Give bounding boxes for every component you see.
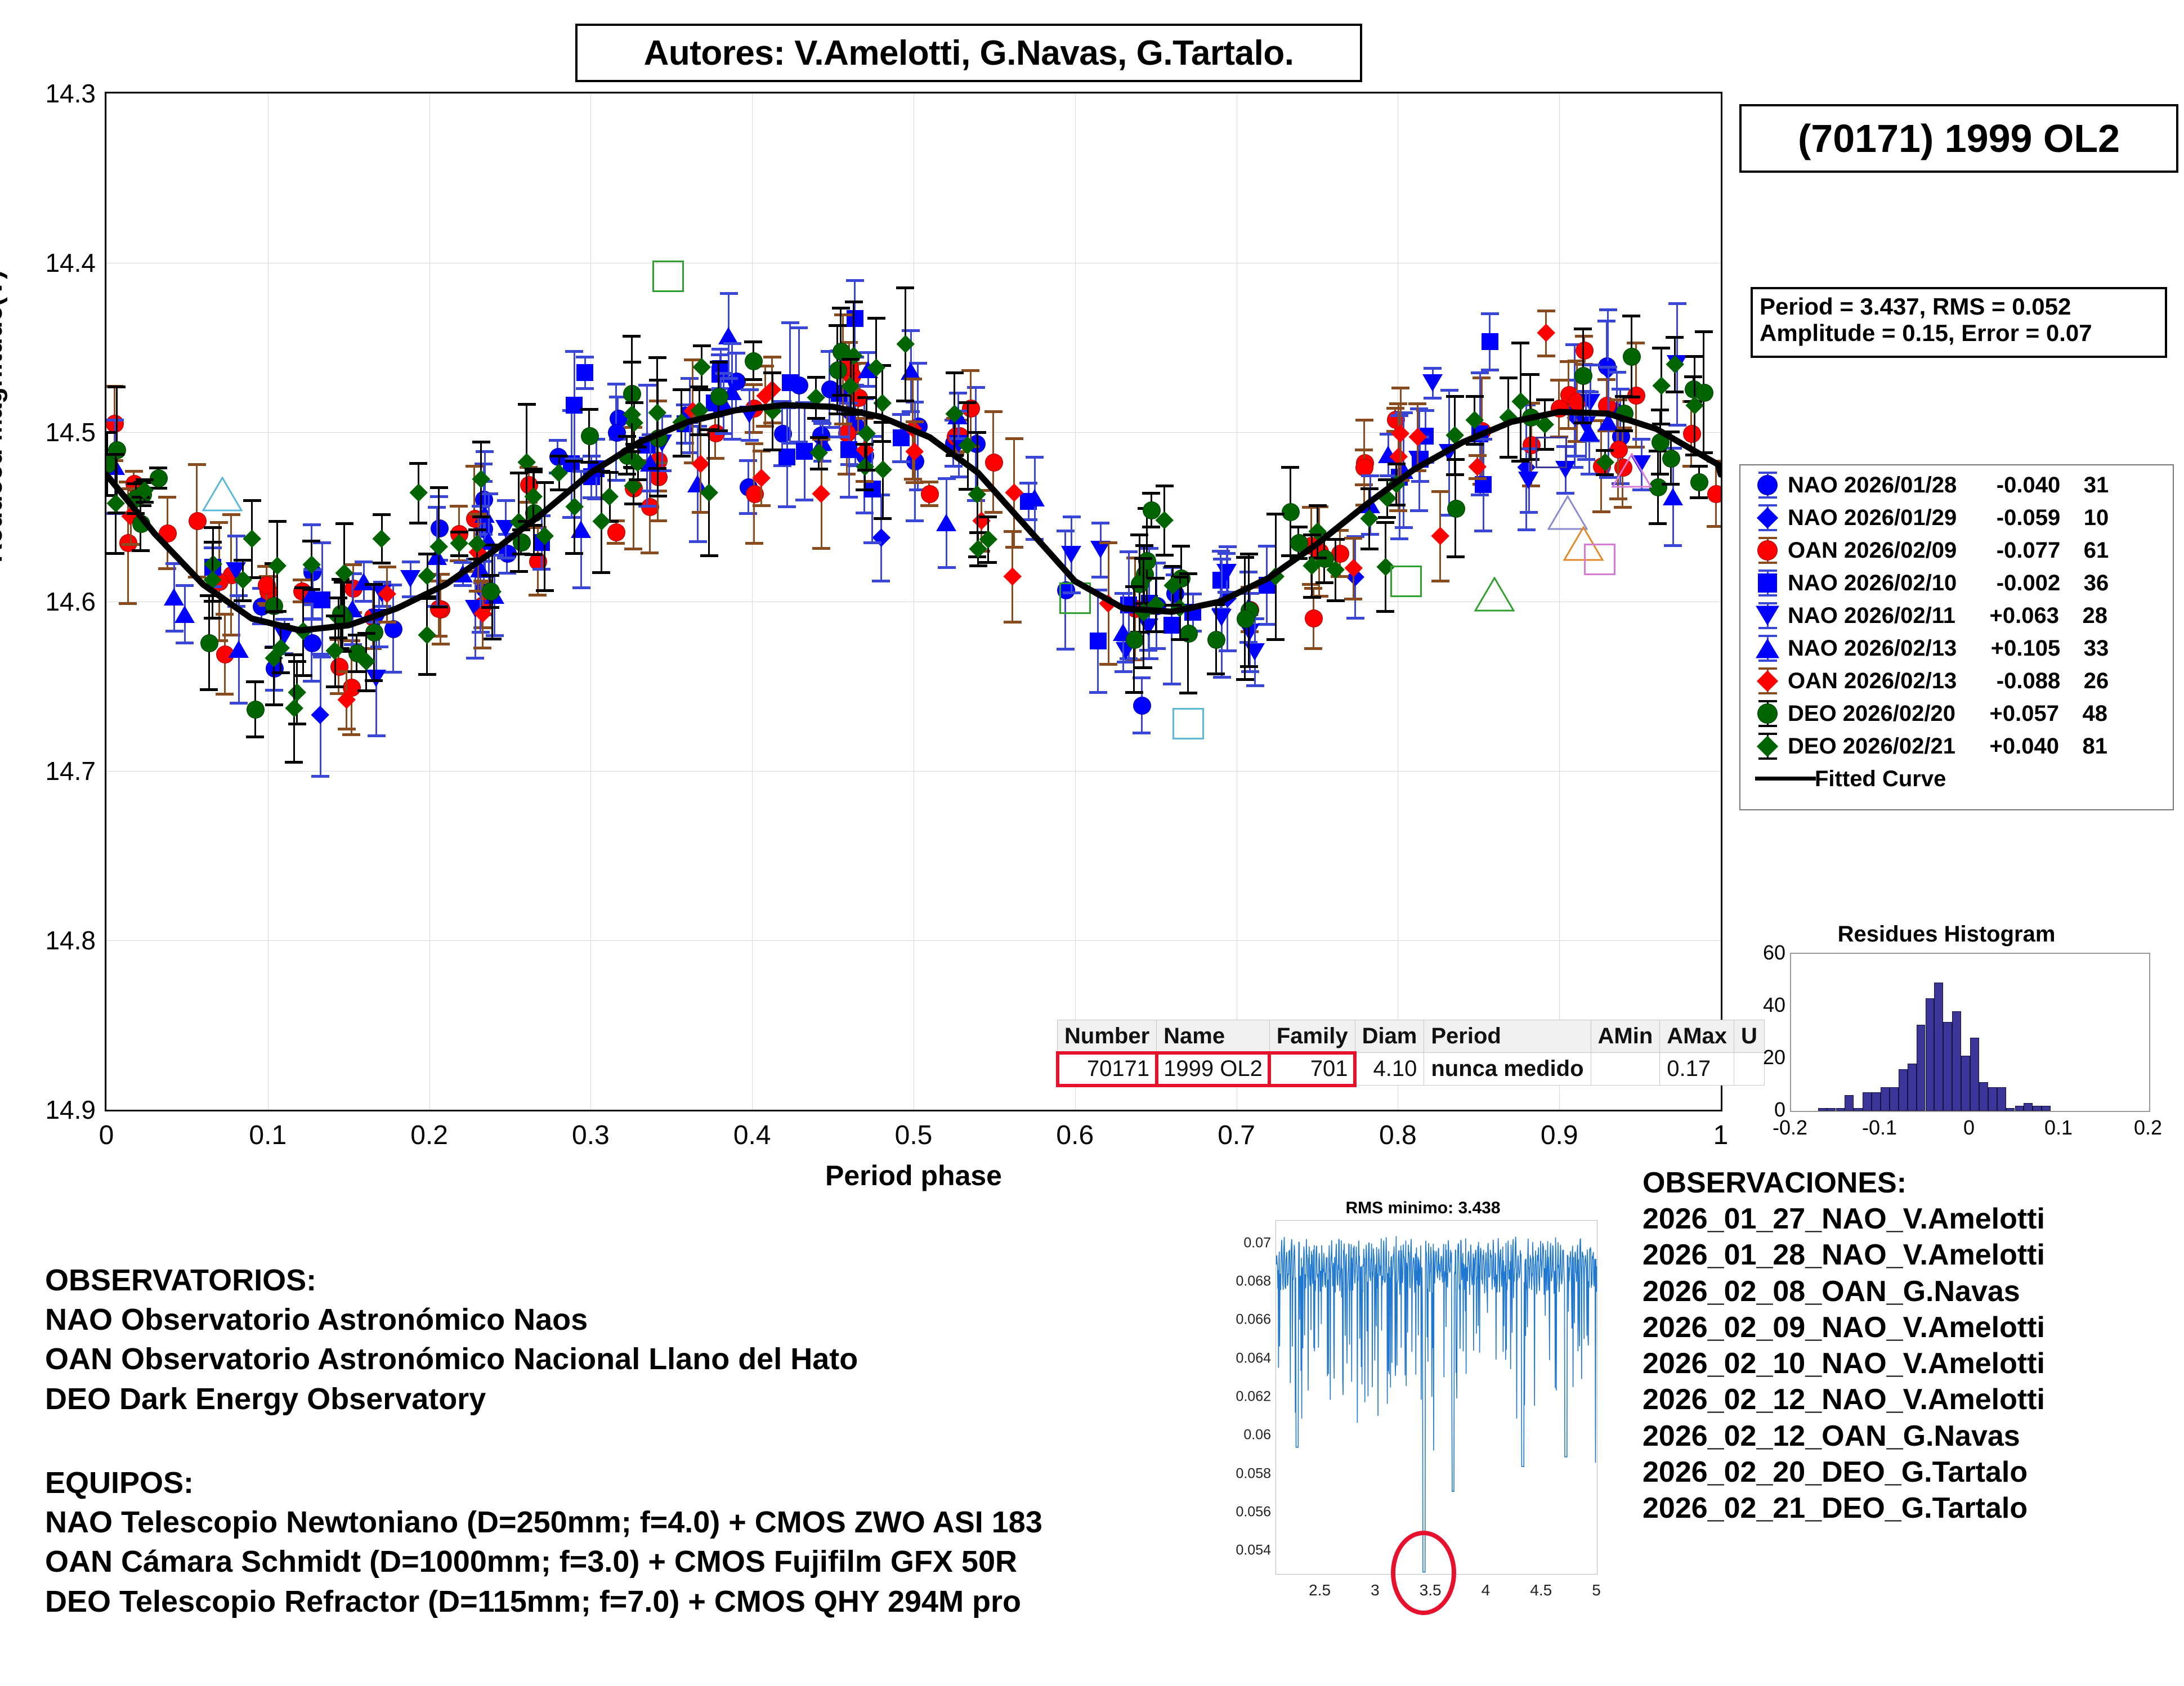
error-bar-cap	[1707, 460, 1721, 463]
error-bar-cap	[1481, 369, 1499, 371]
histogram-bar	[1881, 1087, 1890, 1111]
error-bar-cap	[1574, 421, 1592, 424]
error-bar-cap	[867, 416, 885, 419]
error-bar-cap	[1376, 521, 1394, 524]
histogram-bar	[1926, 998, 1935, 1111]
error-bar	[438, 487, 440, 606]
error-bar-cap	[587, 497, 605, 500]
error-bar	[224, 614, 226, 694]
error-bar-cap	[1668, 302, 1686, 305]
legend-item[interactable]: OAN 2026/02/13-0.08826	[1740, 665, 2173, 697]
error-bar	[343, 523, 345, 624]
error-bar	[276, 521, 278, 611]
error-bar-cap	[1091, 522, 1109, 524]
error-bar	[760, 451, 762, 505]
error-bar-cap	[872, 494, 890, 496]
error-bar	[957, 393, 959, 439]
error-bar-cap	[727, 408, 745, 411]
legend-point-count: 81	[2059, 734, 2107, 759]
error-bar	[489, 575, 491, 607]
error-bar-cap	[979, 515, 997, 518]
error-bar-cap	[892, 460, 910, 463]
error-bar	[1363, 450, 1365, 484]
error-bar-cap	[334, 650, 352, 653]
error-bar-cap	[1241, 670, 1259, 673]
residues-histogram: Residues Histogram 0204060-0.2-0.100.10.…	[1721, 922, 2172, 1147]
error-bar-cap	[1026, 456, 1044, 459]
error-bar	[491, 545, 493, 638]
legend-series-name: NAO 2026/02/10	[1788, 571, 1957, 595]
error-bar-cap	[136, 478, 154, 481]
error-bar	[1139, 535, 1140, 632]
observacion-item: 2026_02_21_DEO_G.Tartalo	[1643, 1490, 2183, 1526]
error-bar-cap	[1099, 541, 1117, 544]
error-bar-cap	[1666, 336, 1684, 339]
periodogram-x-tick-label: 5	[1592, 1581, 1601, 1599]
observatorio-heading: OBSERVATORIOS:	[45, 1261, 1205, 1300]
error-bar	[1454, 396, 1456, 474]
error-bar	[356, 635, 357, 671]
error-bar	[320, 654, 321, 776]
error-bar-cap	[1184, 593, 1202, 595]
error-bar-cap	[1408, 469, 1426, 472]
error-bar	[637, 447, 639, 479]
error-bar-cap	[132, 496, 150, 499]
error-bar-cap	[781, 442, 799, 445]
error-bar-cap	[106, 453, 124, 456]
error-bar	[1128, 551, 1130, 658]
error-bar-cap	[623, 361, 641, 364]
error-bar-cap	[468, 528, 486, 531]
histogram-x-tick-label: 0.2	[2134, 1116, 2162, 1140]
error-bar-cap	[753, 504, 771, 507]
error-bar	[480, 506, 481, 632]
error-bar-cap	[243, 499, 261, 502]
error-bar-cap	[268, 520, 287, 523]
error-bar-cap	[373, 562, 391, 564]
error-bar	[882, 422, 884, 518]
error-bar	[1028, 483, 1030, 519]
error-bar-cap	[272, 671, 290, 674]
error-bar-cap	[1005, 546, 1023, 549]
error-bar	[905, 288, 906, 401]
error-bar-cap	[1290, 557, 1308, 560]
error-bar-cap	[904, 478, 922, 481]
error-bar-cap	[481, 606, 499, 609]
error-bar-cap	[285, 653, 303, 656]
error-bar	[473, 466, 475, 571]
error-bar-cap	[1565, 466, 1583, 469]
error-bar-cap	[303, 618, 321, 621]
error-bar	[427, 554, 428, 598]
legend-error-bar	[1767, 667, 1769, 694]
table-row: 70171 1999 OL2 701 4.10 nunca medido 0.1…	[1058, 1053, 1765, 1086]
error-bar-cap	[204, 526, 222, 529]
error-bar	[753, 384, 754, 432]
cell-number: 70171	[1058, 1053, 1157, 1086]
error-bar-cap	[946, 371, 964, 374]
error-bar-cap	[1117, 661, 1135, 663]
error-bar	[798, 328, 800, 442]
highlighted-point-square-outline	[1536, 437, 1567, 468]
error-bar	[230, 514, 232, 635]
histogram-title: Residues Histogram	[1838, 922, 2056, 947]
error-bar-cap	[450, 505, 468, 508]
error-bar	[238, 595, 240, 703]
equipos-block: EQUIPOS:NAO Telescopio Newtoniano (D=250…	[45, 1463, 1238, 1621]
error-bar-cap	[1474, 438, 1492, 441]
periodogram-x-tick-label: 3	[1371, 1581, 1380, 1599]
error-bar-cap	[378, 566, 396, 568]
error-bar-cap	[1567, 455, 1585, 458]
error-bar-cap	[222, 513, 240, 516]
legend-series-name: DEO 2026/02/21	[1788, 734, 1955, 759]
error-bar-cap	[624, 503, 642, 505]
legend-item[interactable]: DEO 2026/02/20+0.05748	[1740, 697, 2173, 730]
error-bar-cap	[863, 541, 881, 544]
error-bar-cap	[510, 472, 528, 474]
error-bar	[167, 497, 168, 569]
error-bar	[1483, 439, 1484, 531]
authors-title-box: Autores: V.Amelotti, G.Navas, G.Tartalo.	[575, 24, 1362, 82]
y-axis-tick-label: 14.4	[0, 248, 96, 278]
legend-marker-circle-icon	[1747, 535, 1788, 566]
legend-marker-square-icon	[1747, 567, 1788, 599]
error-bar-cap	[1004, 621, 1022, 624]
histogram-x-tick-label: 0.1	[2044, 1116, 2073, 1140]
error-bar-cap	[938, 477, 956, 480]
legend-error-cap	[1758, 562, 1777, 564]
cell-diam: 4.10	[1355, 1053, 1424, 1086]
error-bar-cap	[1597, 378, 1615, 381]
error-bar-cap	[1466, 443, 1484, 446]
error-bar-cap	[842, 358, 860, 361]
legend-item[interactable]: NAO 2026/02/11+0.06328	[1740, 599, 2173, 632]
histogram-bar	[1908, 1064, 1917, 1111]
error-bar	[1385, 522, 1386, 611]
error-bar	[609, 472, 611, 521]
error-bar-cap	[781, 321, 799, 324]
error-bar-cap	[1240, 665, 1258, 668]
error-bar-cap	[856, 443, 874, 446]
error-bar-cap	[1662, 431, 1680, 433]
error-bar	[617, 397, 619, 438]
error-bar-cap	[830, 436, 848, 438]
error-bar-cap	[268, 610, 287, 613]
error-bar-cap	[338, 728, 356, 730]
error-bar-cap	[1089, 589, 1107, 591]
error-bar-cap	[859, 351, 877, 354]
legend-item-fitted-curve[interactable]: Fitted Curve	[1740, 763, 2173, 795]
histogram-bar	[1863, 1092, 1872, 1111]
observaciones-block: OBSERVACIONES:2026_01_27_NAO_V.Amelotti2…	[1643, 1165, 2183, 1526]
error-bar	[574, 461, 575, 553]
error-bar	[1448, 390, 1450, 515]
error-bar	[1635, 343, 1637, 447]
error-bar-cap	[227, 605, 245, 608]
error-bar-cap	[1649, 522, 1667, 525]
error-bar	[1254, 618, 1256, 685]
error-bar-cap	[348, 670, 366, 673]
plot-legend: NAO 2026/01/28-0.04031NAO 2026/01/29-0.0…	[1739, 464, 2174, 810]
error-bar-cap	[469, 590, 487, 593]
error-bar-cap	[715, 432, 733, 435]
error-bar	[580, 471, 582, 588]
error-bar-cap	[896, 400, 914, 402]
legend-error-cap	[1758, 496, 1777, 499]
error-bar-cap	[329, 636, 347, 639]
data-point-marker	[1707, 485, 1721, 503]
highlighted-point-triangle-outline	[1474, 577, 1515, 612]
legend-item[interactable]: NAO 2026/01/29-0.05910	[1740, 501, 2173, 534]
x-axis-tick-label: 0.3	[572, 1120, 610, 1151]
error-bar-cap	[1615, 429, 1633, 432]
error-bar	[574, 351, 575, 459]
error-bar-cap	[1179, 572, 1197, 575]
legend-series-name: NAO 2026/02/11	[1788, 603, 1955, 628]
error-bar-cap	[1134, 557, 1152, 560]
legend-item[interactable]: DEO 2026/02/21+0.04081	[1740, 730, 2173, 763]
error-bar-cap	[1218, 552, 1236, 555]
error-bar	[1474, 396, 1475, 444]
error-bar	[532, 469, 534, 525]
periodogram-y-tick-label: 0.068	[1215, 1274, 1271, 1290]
error-bar-cap	[1125, 585, 1143, 588]
error-bar-cap	[692, 511, 710, 514]
error-bar	[1335, 539, 1336, 600]
error-bar	[520, 530, 522, 554]
error-bar-cap	[165, 630, 184, 633]
error-bar	[351, 640, 352, 735]
legend-offset-value: -0.002	[1957, 571, 2060, 596]
error-bar-cap	[1577, 458, 1595, 461]
error-bar-cap	[450, 531, 468, 533]
error-bar-cap	[176, 642, 194, 644]
histogram-bar	[1934, 983, 1943, 1111]
error-bar-cap	[550, 455, 568, 458]
error-bar	[1395, 464, 1397, 505]
error-bar-cap	[1391, 387, 1409, 389]
error-bar	[1244, 557, 1246, 679]
error-bar	[544, 482, 545, 590]
legend-label: NAO 2026/02/11+0.06328	[1788, 603, 2107, 629]
error-bar-cap	[234, 599, 252, 602]
error-bar	[1418, 409, 1420, 511]
error-bar-cap	[1388, 463, 1406, 465]
error-bar-cap	[629, 478, 647, 481]
cell-amin	[1591, 1053, 1660, 1086]
error-bar	[1297, 527, 1299, 558]
error-bar-cap	[1615, 395, 1633, 398]
error-bar	[1568, 361, 1569, 428]
equipo-item: DEO Telescopio Refractor (D=115mm; f=7.0…	[45, 1582, 1238, 1621]
error-bar	[458, 532, 460, 555]
error-bar-cap	[1582, 364, 1600, 366]
error-bar-cap	[450, 554, 468, 557]
legend-offset-value: +0.057	[1955, 701, 2059, 727]
x-axis-tick-label: 0.6	[1056, 1120, 1094, 1151]
error-bar-cap	[132, 549, 150, 552]
legend-fitted-curve-label: Fitted Curve	[1815, 766, 1946, 792]
error-bar	[718, 362, 719, 430]
error-bar	[584, 357, 586, 388]
error-bar-cap	[106, 552, 124, 555]
histogram-bar	[1988, 1087, 1997, 1111]
observacion-item: 2026_02_20_DEO_G.Tartalo	[1643, 1454, 2183, 1490]
legend-offset-value: -0.077	[1957, 538, 2060, 563]
error-bar	[867, 352, 869, 385]
y-axis-tick-label: 14.6	[0, 586, 96, 617]
error-bar	[1604, 450, 1606, 474]
error-bar-cap	[1511, 342, 1529, 344]
error-bar-cap	[648, 356, 666, 359]
histogram-x-tick-label: -0.2	[1773, 1116, 1807, 1140]
periodogram-y-tick-label: 0.062	[1215, 1389, 1271, 1405]
error-bar	[981, 490, 982, 551]
error-bar-cap	[744, 378, 762, 381]
error-bar-cap	[1218, 591, 1236, 594]
error-bar	[681, 389, 682, 456]
error-bar-cap	[1331, 529, 1349, 532]
error-bar-cap	[624, 467, 642, 469]
error-bar-cap	[498, 533, 516, 536]
error-bar	[296, 661, 298, 723]
error-bar-cap	[845, 409, 863, 412]
error-bar-cap	[1241, 592, 1259, 595]
legend-offset-value: -0.088	[1957, 669, 2060, 694]
error-bar-cap	[344, 563, 362, 566]
error-bar-cap	[624, 548, 642, 550]
error-bar-cap	[1386, 430, 1404, 433]
legend-offset-value: +0.105	[1957, 636, 2060, 661]
x-axis-tick-label: 0.1	[249, 1120, 287, 1151]
legend-item[interactable]: OAN 2026/02/09-0.07761	[1740, 534, 2173, 567]
error-bar	[723, 373, 724, 433]
error-bar-cap	[1395, 526, 1413, 529]
error-bar-cap	[484, 638, 502, 640]
error-bar-cap	[252, 622, 270, 625]
error-bar-cap	[1026, 538, 1044, 541]
error-bar	[526, 404, 527, 521]
legend-marker-diamond-icon	[1747, 730, 1788, 762]
error-bar-cap	[368, 734, 386, 737]
error-bar-cap	[711, 392, 729, 395]
error-bar-cap	[373, 605, 391, 608]
error-bar-cap	[1522, 485, 1540, 487]
legend-series-name: NAO 2026/01/28	[1788, 473, 1957, 497]
error-bar	[1013, 438, 1015, 548]
error-bar-cap	[1303, 533, 1321, 536]
error-bar	[242, 560, 244, 600]
legend-series-name: OAN 2026/02/13	[1788, 669, 1957, 693]
error-bar-cap	[468, 558, 486, 560]
error-bar-cap	[1115, 592, 1133, 595]
error-bar	[338, 598, 339, 637]
error-bar-cap	[1411, 436, 1429, 438]
error-bar-cap	[127, 512, 145, 515]
error-bar-cap	[454, 561, 472, 564]
error-bar-cap	[476, 450, 494, 453]
error-bar	[1694, 356, 1695, 454]
highlighted-point-square-outline	[1059, 582, 1091, 614]
error-bar-cap	[1520, 511, 1538, 514]
error-bar-cap	[1424, 397, 1442, 400]
error-bar	[786, 407, 788, 506]
error-bar-cap	[106, 419, 124, 421]
error-bar	[184, 585, 186, 643]
error-bar-cap	[1207, 672, 1225, 675]
highlighted-point-square-outline	[1172, 708, 1204, 739]
error-bar-cap	[454, 584, 472, 587]
error-bar	[476, 530, 478, 558]
error-bar	[615, 521, 617, 543]
error-bar-cap	[525, 524, 543, 527]
error-bar	[656, 357, 658, 468]
error-bar-cap	[576, 356, 594, 358]
error-bar	[946, 478, 947, 567]
legend-item[interactable]: NAO 2026/02/10-0.00236	[1740, 567, 2173, 599]
error-bar-cap	[1130, 533, 1148, 536]
error-bar-cap	[1469, 454, 1487, 457]
error-bar-cap	[1258, 623, 1276, 626]
error-bar	[815, 377, 817, 418]
error-bar	[749, 389, 750, 441]
error-bar-cap	[673, 388, 691, 391]
error-bar-cap	[334, 581, 352, 584]
error-bar-cap	[711, 348, 730, 351]
cell-family: 701	[1269, 1053, 1355, 1086]
error-bar	[1133, 586, 1135, 692]
error-bar-cap	[813, 422, 831, 425]
histogram-plot-area	[1790, 953, 2150, 1112]
error-bar-cap	[409, 522, 427, 524]
error-bar-cap	[1560, 427, 1578, 430]
error-bar-cap	[1632, 488, 1650, 491]
error-bar	[115, 454, 117, 553]
legend-label: NAO 2026/02/13+0.10533	[1788, 636, 2109, 661]
legend-item[interactable]: NAO 2026/02/13+0.10533	[1740, 632, 2173, 665]
error-bar-cap	[829, 324, 847, 327]
error-bar-cap	[565, 350, 583, 353]
error-bar-cap	[265, 562, 283, 565]
error-bar-cap	[1556, 492, 1574, 495]
error-bar	[1661, 348, 1662, 424]
error-bar	[140, 497, 141, 550]
legend-error-bar	[1767, 635, 1769, 662]
x-axis-title: Period phase	[825, 1159, 1002, 1192]
legend-error-bar	[1767, 504, 1769, 531]
error-bar-cap	[946, 454, 964, 457]
error-bar-cap	[1410, 509, 1428, 512]
th-amin: AMin	[1591, 1020, 1660, 1053]
legend-error-bar	[1767, 733, 1769, 760]
authors-title: Autores: V.Amelotti, G.Navas, G.Tartalo.	[644, 33, 1294, 73]
error-bar-cap	[1147, 577, 1165, 580]
histogram-bar	[1845, 1095, 1854, 1111]
legend-item[interactable]: NAO 2026/01/28-0.04031	[1740, 469, 2173, 501]
error-bar-cap	[1164, 604, 1182, 607]
error-bar-cap	[1446, 473, 1464, 476]
error-bar-cap	[1471, 494, 1489, 496]
error-bar-cap	[1599, 366, 1617, 369]
error-bar	[596, 439, 597, 499]
error-bar-cap	[176, 584, 194, 587]
error-bar-cap	[1004, 530, 1022, 533]
error-bar	[1698, 466, 1700, 497]
y-axis-tick-label: 14.9	[0, 1095, 96, 1125]
periodogram-x-tick-label: 4	[1482, 1581, 1491, 1599]
error-bar-cap	[950, 410, 968, 412]
